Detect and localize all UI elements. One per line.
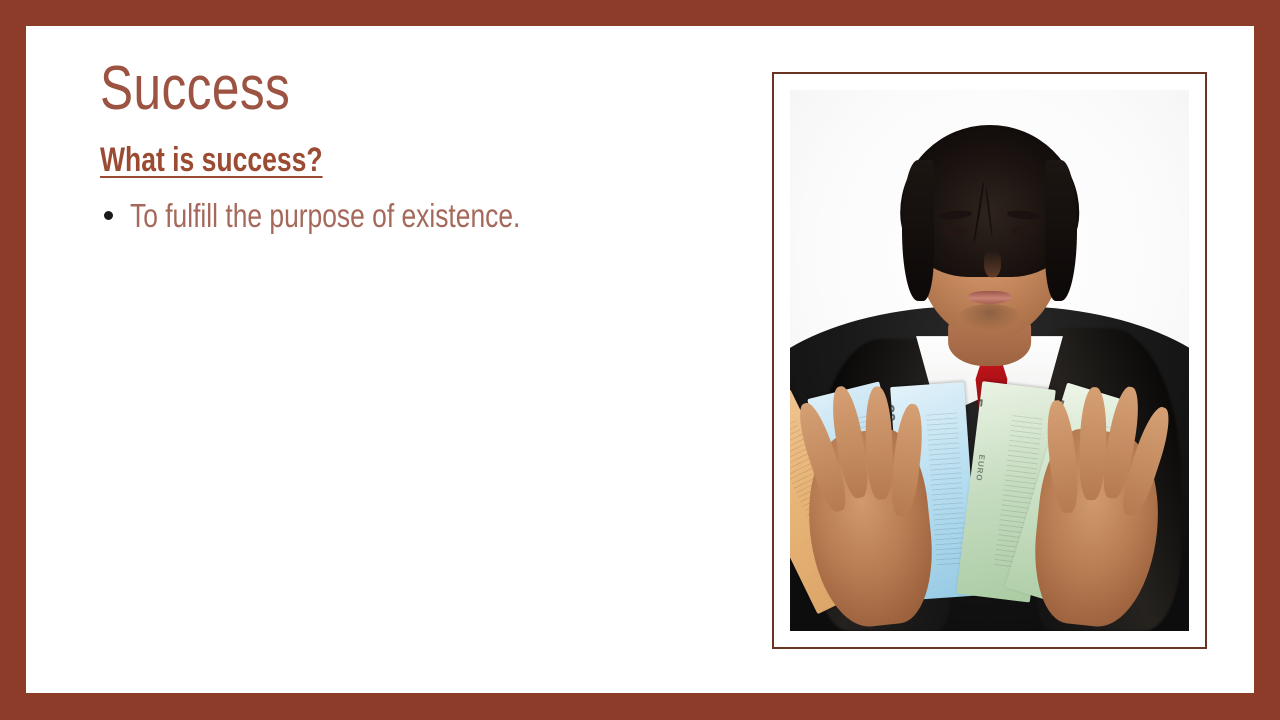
bullet-dot-icon xyxy=(104,211,113,220)
chin-stubble xyxy=(958,304,1022,331)
hair-side-left xyxy=(902,160,934,301)
banknote-currency-label: EURO xyxy=(974,454,986,482)
mouth xyxy=(968,291,1012,304)
page-title: Success xyxy=(100,58,596,120)
subtitle-container: What is success? xyxy=(100,142,720,179)
banknote-denomination: 20 xyxy=(891,404,899,422)
eye-left xyxy=(942,226,967,235)
presentation-slide: Success What is success? To fulfill the … xyxy=(0,0,1280,720)
slide-content-area: Success What is success? To fulfill the … xyxy=(26,26,1254,693)
banknote-denomination: 5 xyxy=(965,397,986,408)
list-item: To fulfill the purpose of existence. xyxy=(100,197,720,235)
photo-businessman-with-euros: 50 EURO 20 EURO 20 EURO xyxy=(790,90,1189,631)
slide-text-region: Success What is success? To fulfill the … xyxy=(100,58,720,235)
nose xyxy=(984,250,1002,278)
bullet-list: To fulfill the purpose of existence. xyxy=(100,197,720,235)
eye-right xyxy=(1012,226,1037,235)
list-item-label: To fulfill the purpose of existence. xyxy=(130,197,520,235)
slide-subtitle: What is success? xyxy=(100,142,323,179)
picture-frame: 50 EURO 20 EURO 20 EURO xyxy=(772,72,1207,649)
